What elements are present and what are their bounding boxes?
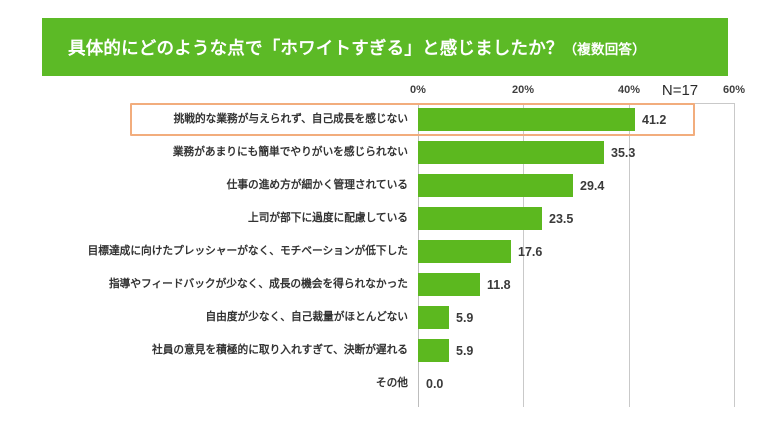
bar-row: その他 0.0 [0,367,770,400]
bar-group: 23.5 [418,202,573,235]
bar-group: 35.3 [418,136,635,169]
slide-canvas: 具体的にどのような点で「ホワイトすぎる」と感じましたか？（複数回答） 0% 20… [0,0,770,433]
bar-value-label: 11.8 [487,278,511,292]
bar [418,273,480,296]
category-label: 仕事の進め方が細かく管理されている [0,169,408,202]
page-title-main: 具体的にどのような点で「ホワイトすぎる」と感じましたか？ [68,38,564,58]
page-title: 具体的にどのような点で「ホワイトすぎる」と感じましたか？（複数回答） [68,35,646,60]
bar-value-label: 0.0 [426,377,443,391]
bar-value-label: 17.6 [518,245,542,259]
category-label: 上司が部下に過度に配慮している [0,202,408,235]
x-tick-0: 0% [410,84,426,96]
x-tick-3: 60% [723,84,745,96]
bar-row: 自由度が少なく、自己裁量がほとんどない 5.9 [0,301,770,334]
x-tick-1: 20% [512,84,534,96]
category-label: 挑戦的な業務が与えられず、自己成長を感じない [0,103,408,136]
bar [418,339,449,362]
x-axis-tick-labels: 0% 20% 40% 60% N=17 [0,84,770,104]
bar-group: 5.9 [418,334,473,367]
bar-rows: 挑戦的な業務が与えられず、自己成長を感じない 41.2 業務があまりにも簡単でや… [0,103,770,400]
sample-size-note: N=17 [662,82,698,99]
bar-row: 仕事の進め方が細かく管理されている 29.4 [0,169,770,202]
bar-value-label: 29.4 [580,179,604,193]
bar [418,240,511,263]
bar-row: 上司が部下に過度に配慮している 23.5 [0,202,770,235]
bar [418,207,542,230]
bar-row: 業務があまりにも簡単でやりがいを感じられない 35.3 [0,136,770,169]
category-label: 自由度が少なく、自己裁量がほとんどない [0,301,408,334]
bar-group: 11.8 [418,268,511,301]
bar-row: 目標達成に向けたプレッシャーがなく、モチベーションが低下した 17.6 [0,235,770,268]
bar-row: 社員の意見を積極的に取り入れすぎて、決断が遅れる 5.9 [0,334,770,367]
bar [418,174,573,197]
category-label: 業務があまりにも簡単でやりがいを感じられない [0,136,408,169]
header-banner: 具体的にどのような点で「ホワイトすぎる」と感じましたか？（複数回答） [42,18,728,76]
bar-value-label: 5.9 [456,311,473,325]
bar-row: 挑戦的な業務が与えられず、自己成長を感じない 41.2 [0,103,770,136]
category-label: 目標達成に向けたプレッシャーがなく、モチベーションが低下した [0,235,408,268]
bar-group: 0.0 [418,367,443,400]
bar-value-label: 5.9 [456,344,473,358]
bar [418,108,635,131]
x-tick-2: 40% [618,84,640,96]
page-title-sub: （複数回答） [564,42,646,57]
plot-area: 挑戦的な業務が与えられず、自己成長を感じない 41.2 業務があまりにも簡単でや… [0,103,770,429]
category-label: 社員の意見を積極的に取り入れすぎて、決断が遅れる [0,334,408,367]
bar-group: 5.9 [418,301,473,334]
bar-group: 41.2 [418,103,666,136]
category-label: 指導やフィードバックが少なく、成長の機会を得られなかった [0,268,408,301]
bar-value-label: 35.3 [611,146,635,160]
bar [418,141,604,164]
bar-group: 29.4 [418,169,604,202]
bar-value-label: 41.2 [642,113,666,127]
bar-row: 指導やフィードバックが少なく、成長の機会を得られなかった 11.8 [0,268,770,301]
bar [418,306,449,329]
category-label: その他 [0,367,408,400]
bar-value-label: 23.5 [549,212,573,226]
bar-group: 17.6 [418,235,542,268]
bar-chart: 0% 20% 40% 60% N=17 挑戦的な業務が与えられず、自己成長を感じ… [0,84,770,429]
